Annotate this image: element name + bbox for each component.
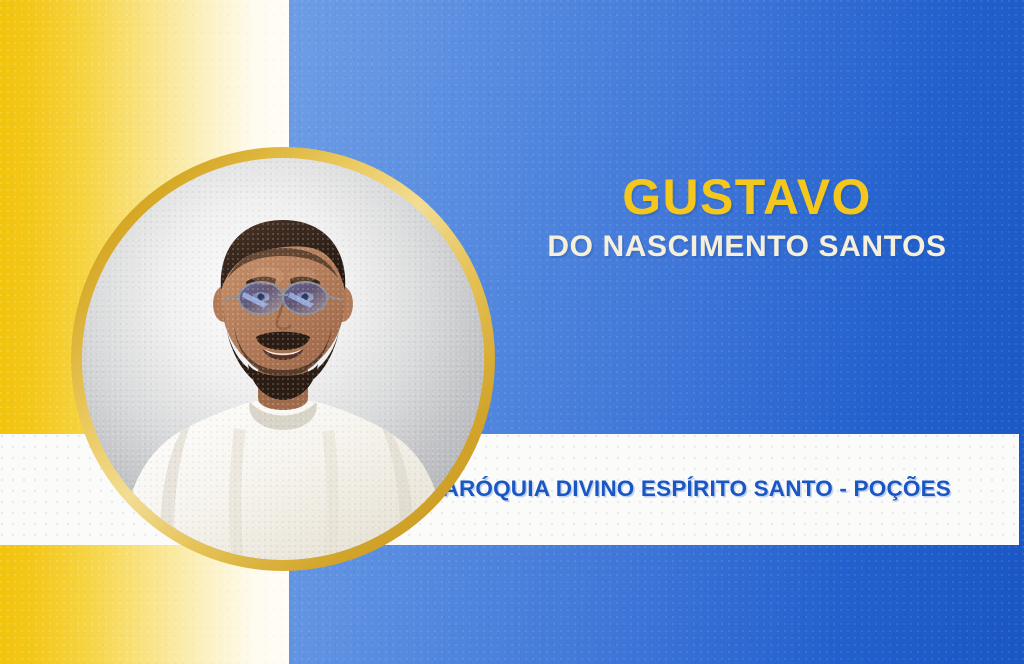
name-rest: DO NASCIMENTO SANTOS	[474, 231, 1020, 263]
portrait-photo	[82, 158, 484, 560]
name-block: GUSTAVO DO NASCIMENTO SANTOS	[474, 172, 1020, 263]
portrait-photo-mask	[82, 158, 484, 560]
portrait-frame	[71, 147, 495, 571]
parish-name: PARÓQUIA DIVINO ESPÍRITO SANTO - POÇÕES	[400, 474, 980, 505]
name-first: GUSTAVO	[474, 172, 1020, 222]
announcement-card: GUSTAVO DO NASCIMENTO SANTOS PARÓQUIA DI…	[0, 0, 1024, 664]
